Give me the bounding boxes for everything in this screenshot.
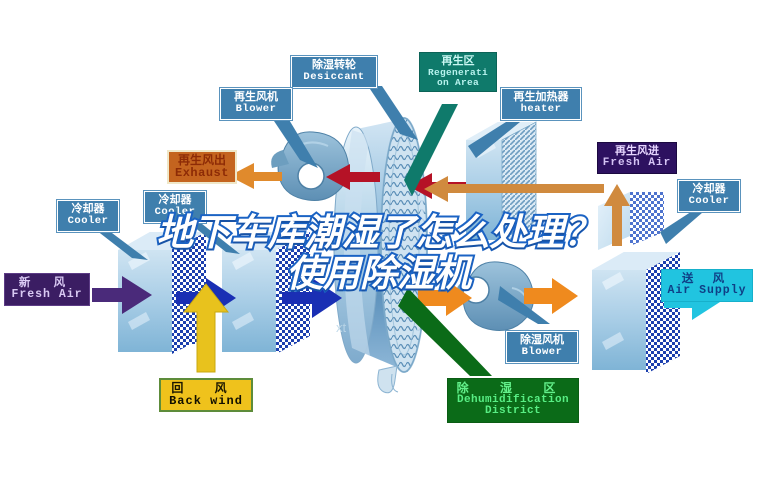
dehumidifier-diagram: xt 除湿转轮 Desiccant 再生风机 Blower 再生区 Regene… (0, 0, 757, 488)
label-desiccant-wheel-cn: 除湿转轮 (294, 60, 374, 72)
label-fresh-air[interactable]: 新 风 Fresh Air (4, 273, 90, 306)
label-desiccant-wheel-en: Desiccant (294, 72, 374, 83)
label-regeneration-heater-cn: 再生加热器 (504, 92, 578, 104)
regeneration-heater-graphic (466, 122, 536, 244)
label-cooler-mid-cn: 冷却器 (147, 195, 203, 207)
label-regeneration-area[interactable]: 再生区 Regenerati on Area (419, 52, 497, 92)
label-dehumidify-blower[interactable]: 除湿风机 Blower (506, 331, 578, 363)
label-regeneration-fresh-air-cn: 再生风进 (600, 146, 674, 158)
label-dehumidify-blower-en: Blower (509, 347, 575, 358)
label-fresh-air-en: Fresh Air (7, 289, 87, 301)
label-air-supply-en: Air Supply (664, 285, 750, 297)
label-regeneration-blower[interactable]: 再生风机 Blower (220, 88, 292, 120)
label-air-supply[interactable]: 送 风 Air Supply (661, 269, 753, 302)
label-regeneration-heater[interactable]: 再生加热器 heater (501, 88, 581, 120)
label-back-wind[interactable]: 回 风 Back wind (159, 378, 253, 412)
label-desiccant-wheel[interactable]: 除湿转轮 Desiccant (291, 56, 377, 88)
label-regeneration-fresh-air-en: Fresh Air (600, 158, 674, 170)
label-cooler-mid-en: Cooler (147, 207, 203, 218)
label-dehumidify-blower-cn: 除湿风机 (509, 335, 575, 347)
label-cooler-left[interactable]: 冷却器 Cooler (57, 200, 119, 232)
label-dehumidification-district-cn: 除 湿 区 (450, 382, 576, 395)
label-dehumidification-district[interactable]: 除 湿 区 Dehumidification District (447, 378, 579, 423)
label-cooler-right-cn: 冷却器 (681, 184, 737, 196)
label-regeneration-exhaust-cn: 再生风出 (171, 154, 233, 167)
label-regeneration-exhaust[interactable]: 再生风出 Exhaust (167, 150, 237, 184)
label-dehumidification-district-en2: District (450, 406, 576, 418)
label-regeneration-blower-en: Blower (223, 104, 289, 115)
label-cooler-mid[interactable]: 冷却器 Cooler (144, 191, 206, 223)
label-regeneration-area-cn: 再生区 (422, 56, 494, 68)
diagram-graphics: xt (0, 0, 757, 488)
label-back-wind-en: Back wind (163, 395, 249, 408)
label-regeneration-heater-en: heater (504, 104, 578, 115)
label-back-wind-cn: 回 风 (163, 382, 249, 395)
label-cooler-right-en: Cooler (681, 196, 737, 207)
leader-cooler-right (660, 206, 710, 244)
regeneration-blower-graphic (271, 132, 348, 201)
label-regeneration-blower-cn: 再生风机 (223, 92, 289, 104)
svg-text:xt: xt (336, 320, 347, 335)
label-cooler-left-cn: 冷却器 (60, 204, 116, 216)
label-regeneration-area-en2: on Area (422, 78, 494, 88)
label-regeneration-exhaust-en: Exhaust (171, 167, 233, 180)
label-cooler-left-en: Cooler (60, 216, 116, 227)
label-regeneration-fresh-air[interactable]: 再生风进 Fresh Air (597, 142, 677, 174)
label-cooler-right[interactable]: 冷却器 Cooler (678, 180, 740, 212)
